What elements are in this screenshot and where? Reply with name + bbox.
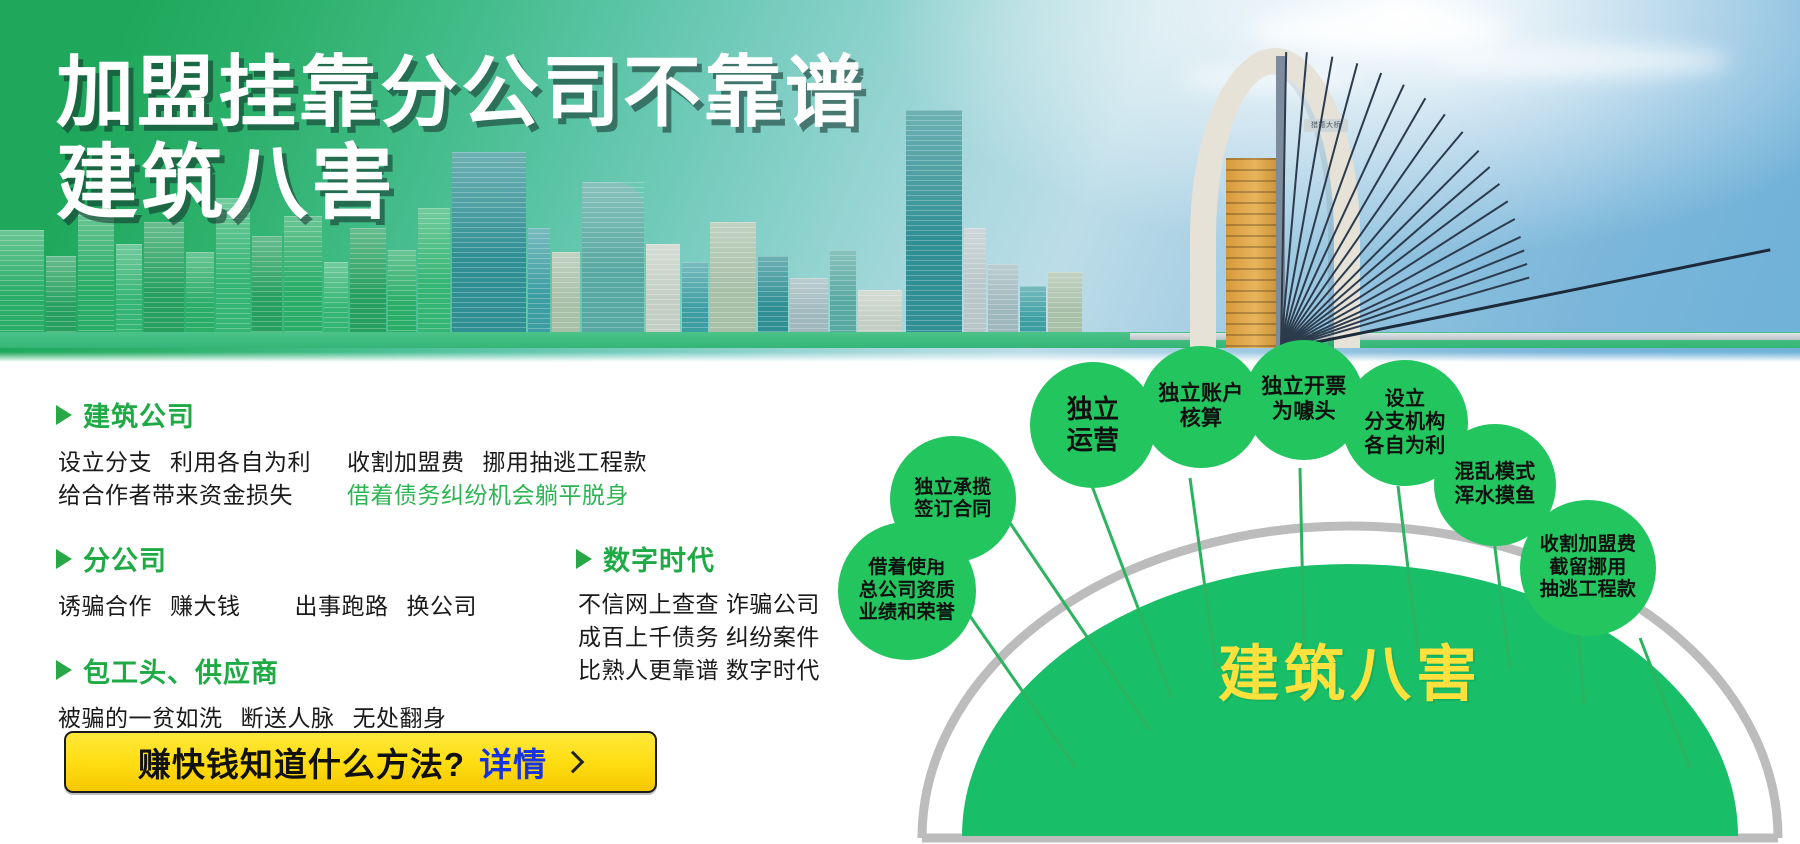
bubble-line: 核算 — [1154, 407, 1247, 432]
bubble-line: 各自为利 — [1360, 435, 1449, 459]
bubble-line: 分支机构 — [1360, 411, 1449, 435]
text-segment: 挪用抽逃工程款 — [483, 449, 648, 475]
bubble-line: 独立账户 — [1154, 382, 1247, 407]
cta-link-label[interactable]: 详情 — [479, 738, 547, 786]
bubble-line: 混乱模式 — [1450, 461, 1539, 485]
bubble-line: 截留挪用 — [1536, 557, 1641, 579]
section-construction-company: 建筑公司 设立分支利用各自为利收割加盟费挪用抽逃工程款 给合作者带来资金损失借着… — [56, 395, 896, 511]
bubble-independent-contracting[interactable]: 独立承揽 签订合同 — [890, 436, 1016, 562]
bubble-line: 独立开票 — [1257, 375, 1350, 400]
section-line: 比熟人更靠谱 数字时代 — [578, 654, 906, 687]
section-title: 分公司 — [83, 539, 167, 578]
bubble-line: 为噱头 — [1257, 400, 1350, 425]
bridge-illustration: 猎德大桥 — [1130, 18, 1800, 348]
text-segment: 被骗的一贫如洗 — [58, 705, 223, 731]
text-segment: 换公司 — [407, 593, 478, 619]
bubble-line: 总公司资质 — [855, 580, 960, 602]
text-segment: 无处翻身 — [353, 705, 447, 731]
section-line: 被骗的一贫如洗断送人脉无处翻身 — [58, 702, 896, 735]
poster-root: 猎德大桥 — [0, 0, 1800, 844]
text-segment: 诱骗合作 — [58, 593, 152, 619]
bubble-line: 运营 — [1063, 425, 1124, 456]
bubble-line: 独立 — [1063, 394, 1124, 425]
text-segment: 出事跑路 — [295, 593, 389, 619]
section-title: 包工头、供应商 — [83, 651, 279, 690]
triangle-right-icon — [576, 549, 592, 569]
triangle-right-icon — [56, 660, 72, 680]
bubble-diagram: 借着使用 总公司资质 业绩和荣誉 独立承揽 签订合同 独立 运营 独立账户 核算 — [900, 338, 1800, 844]
bubble-line: 浑水摸鱼 — [1450, 485, 1539, 509]
section-title: 数字时代 — [603, 539, 715, 578]
headline-line-2: 建筑八害 — [56, 141, 866, 226]
cta-button[interactable]: 赚快钱知道什么方法? 详情 — [64, 731, 657, 793]
text-segment: 设立分支 — [58, 449, 152, 475]
bubble-line: 独立承揽 — [910, 477, 995, 499]
bubble-harvest-fees[interactable]: 收割加盟费 截留挪用 抽逃工程款 — [1520, 500, 1656, 636]
bubble-independent-operation[interactable]: 独立 运营 — [1030, 362, 1156, 488]
headline-line-1: 加盟挂靠分公司不靠谱 — [56, 52, 866, 133]
bubble-line: 收割加盟费 — [1536, 534, 1641, 556]
triangle-right-icon — [56, 405, 72, 425]
cta-label: 赚快钱知道什么方法? — [138, 738, 465, 786]
bubble-line: 抽逃工程款 — [1536, 579, 1641, 601]
section-line: 给合作者带来资金损失借着债务纠纷机会躺平脱身 — [58, 479, 896, 512]
bubble-line: 设立 — [1360, 388, 1449, 412]
hero-headline: 加盟挂靠分公司不靠谱 建筑八害 — [56, 52, 866, 226]
left-content-column: 建筑公司 设立分支利用各自为利收割加盟费挪用抽逃工程款 给合作者带来资金损失借着… — [56, 395, 896, 749]
text-segment: 赚大钱 — [170, 593, 241, 619]
hero-banner: 猎德大桥 — [0, 0, 1800, 362]
chevron-right-icon — [562, 751, 585, 774]
dome-center-label: 建筑八害 — [900, 624, 1800, 713]
text-segment-highlighted: 借着债务纠纷机会躺平脱身 — [347, 482, 629, 508]
text-segment: 断送人脉 — [241, 705, 335, 731]
triangle-right-icon — [56, 549, 72, 569]
section-title: 建筑公司 — [83, 395, 195, 434]
bubble-line: 业绩和荣誉 — [855, 602, 960, 624]
section-line: 设立分支利用各自为利收割加盟费挪用抽逃工程款 — [58, 446, 896, 479]
text-segment: 利用各自为利 — [170, 449, 311, 475]
text-segment: 收割加盟费 — [347, 449, 465, 475]
bubble-line: 签订合同 — [910, 499, 995, 521]
text-segment: 给合作者带来资金损失 — [58, 482, 293, 508]
